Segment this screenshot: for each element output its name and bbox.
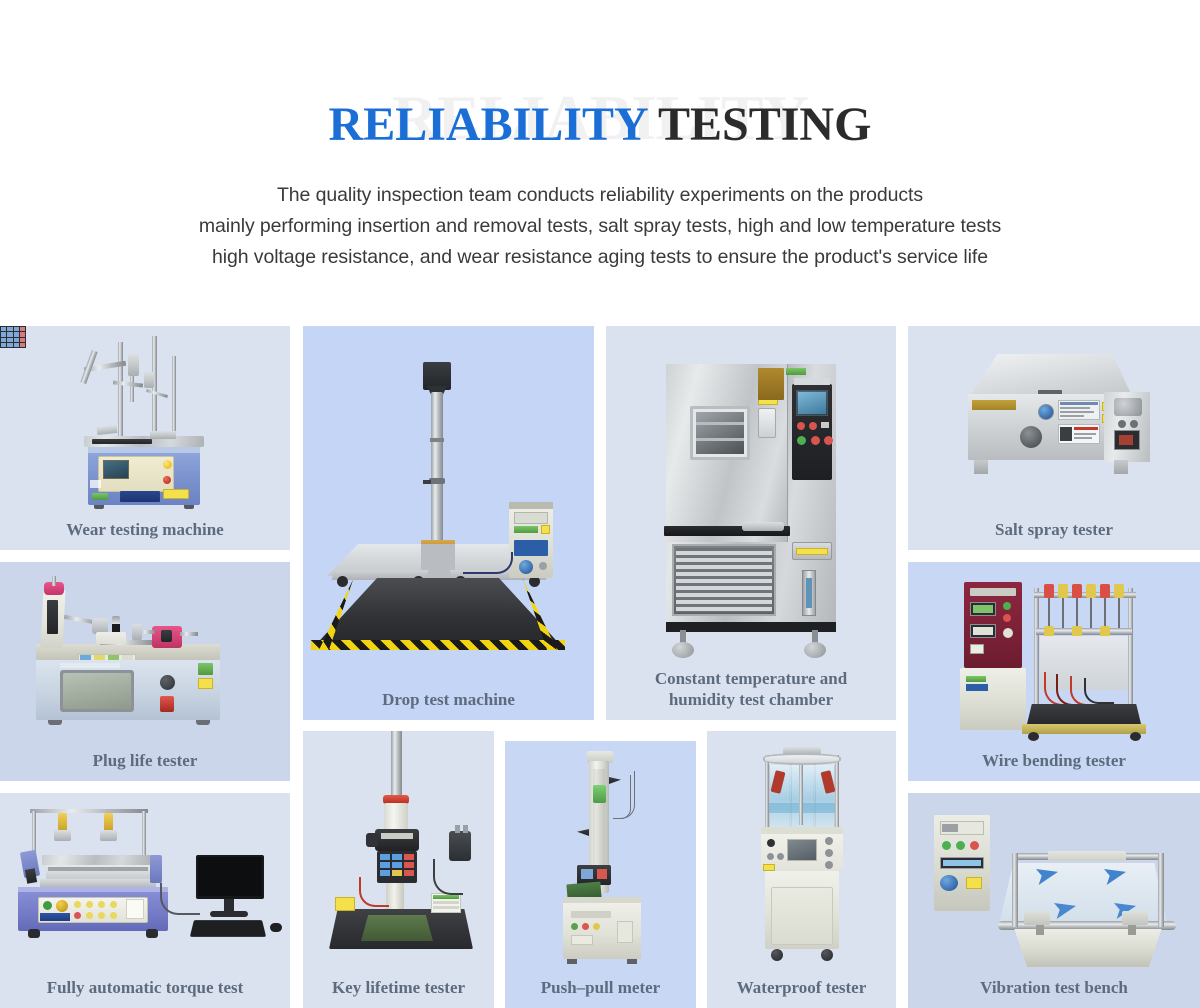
card-vibration-test-bench[interactable]: Vibration test bench — [908, 793, 1200, 1008]
card-salt-spray-tester[interactable]: Salt spray tester — [908, 326, 1200, 550]
card-key-lifetime-tester[interactable]: Key lifetime tester — [303, 731, 494, 1008]
card-waterproof-tester[interactable]: Waterproof tester — [707, 731, 896, 1008]
caption-key-lifetime-tester: Key lifetime tester — [303, 977, 494, 1008]
photo-salt-spray-tester — [908, 326, 1200, 519]
card-wear-testing-machine[interactable]: Wear testing machine — [0, 326, 290, 550]
caption-constant-temperature-humidity-chamber: Constant temperature and humidity test c… — [606, 668, 896, 720]
reliability-testing-page: RELIABILITY RELIABILITY TESTING The qual… — [0, 0, 1200, 1008]
photo-fully-automatic-torque-test — [0, 793, 290, 977]
card-constant-temperature-humidity-chamber[interactable]: Constant temperature and humidity test c… — [606, 326, 896, 720]
photo-push-pull-meter — [505, 741, 696, 977]
photo-waterproof-tester — [707, 731, 896, 977]
photo-key-lifetime-tester — [303, 731, 494, 977]
caption-drop-test-machine: Drop test machine — [303, 689, 594, 720]
caption-waterproof-tester: Waterproof tester — [707, 977, 896, 1008]
photo-wire-bending-tester — [908, 562, 1200, 750]
card-plug-life-tester[interactable]: Plug life tester — [0, 562, 290, 781]
photo-wear-testing-machine — [0, 326, 290, 519]
caption-fully-automatic-torque-test: Fully automatic torque test — [0, 977, 290, 1008]
photo-vibration-test-bench — [908, 793, 1200, 977]
caption-push-pull-meter: Push–pull meter — [505, 977, 696, 1008]
card-wire-bending-tester[interactable]: Wire bending tester — [908, 562, 1200, 781]
card-drop-test-machine[interactable]: Drop test machine — [303, 326, 594, 720]
photo-constant-temperature-humidity-chamber — [606, 326, 896, 668]
card-push-pull-meter[interactable]: Push–pull meter — [505, 741, 696, 1008]
photo-drop-test-machine — [303, 326, 594, 689]
caption-wear-testing-machine: Wear testing machine — [0, 519, 290, 550]
caption-plug-life-tester: Plug life tester — [0, 750, 290, 781]
photo-plug-life-tester — [0, 562, 290, 750]
card-fully-automatic-torque-test[interactable]: Fully automatic torque test — [0, 793, 290, 1008]
caption-vibration-test-bench: Vibration test bench — [908, 977, 1200, 1008]
equipment-grid: Wear testing machine — [0, 0, 1200, 1008]
caption-salt-spray-tester: Salt spray tester — [908, 519, 1200, 550]
caption-wire-bending-tester: Wire bending tester — [908, 750, 1200, 781]
